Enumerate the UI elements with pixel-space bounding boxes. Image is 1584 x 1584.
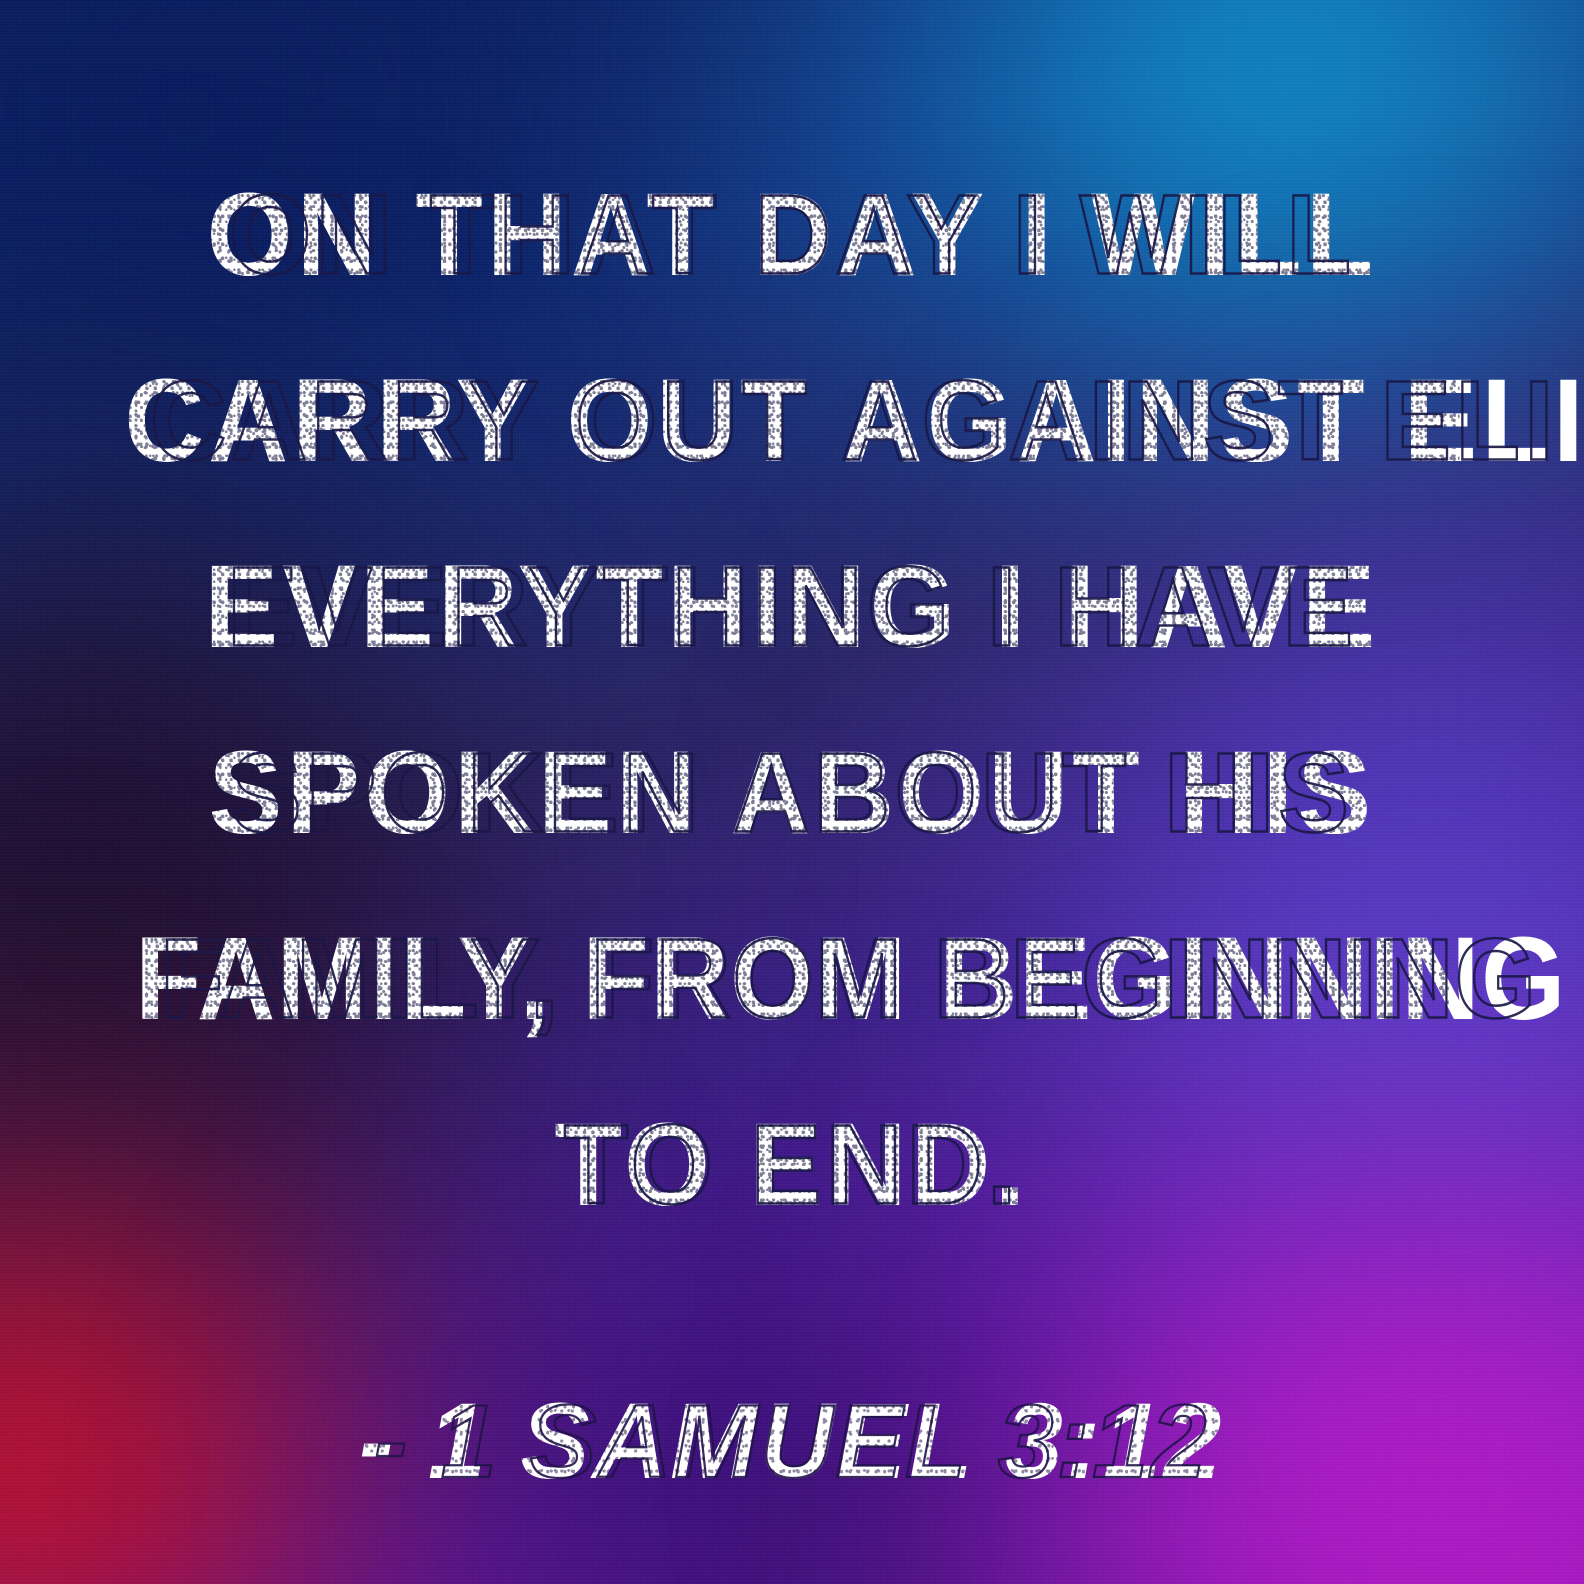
verse-line-5: family, from beginning family, from begi… xyxy=(135,886,1449,1072)
verse-attribution: - 1 Samuel 3:12 - 1 Samuel 3:12 - 1 Samu… xyxy=(359,1378,1224,1504)
verse-line-4-fill: spoken about his xyxy=(209,727,1376,859)
verse-line-6: to end. to end. to end. xyxy=(124,1072,1459,1258)
verse-panel: On that day I will On that day I will On… xyxy=(0,0,1584,1584)
verse-line-6-fill: to end. xyxy=(555,1099,1030,1231)
verse-graphic-canvas: On that day I will On that day I will On… xyxy=(0,0,1584,1584)
attribution-row: - 1 Samuel 3:12 - 1 Samuel 3:12 - 1 Samu… xyxy=(78,1378,1506,1504)
verse-line-4: spoken about his spoken about his spoken… xyxy=(124,700,1459,886)
verse-line-2-fill: carry out against Eli xyxy=(124,355,1584,487)
verse-line-1-fill: On that day I will xyxy=(207,169,1378,301)
verse-line-5-fill: family, from beginning xyxy=(135,913,1567,1045)
verse-line-1: On that day I will On that day I will On… xyxy=(124,142,1459,328)
verse-attribution-grunge: - 1 Samuel 3:12 xyxy=(359,1378,1224,1504)
verse-text-block: On that day I will On that day I will On… xyxy=(78,142,1506,1258)
verse-line-3: everything I have everything I have ever… xyxy=(124,514,1459,700)
verse-line-2: carry out against Eli carry out against … xyxy=(124,328,1459,514)
verse-line-3-fill: everything I have xyxy=(204,541,1379,673)
